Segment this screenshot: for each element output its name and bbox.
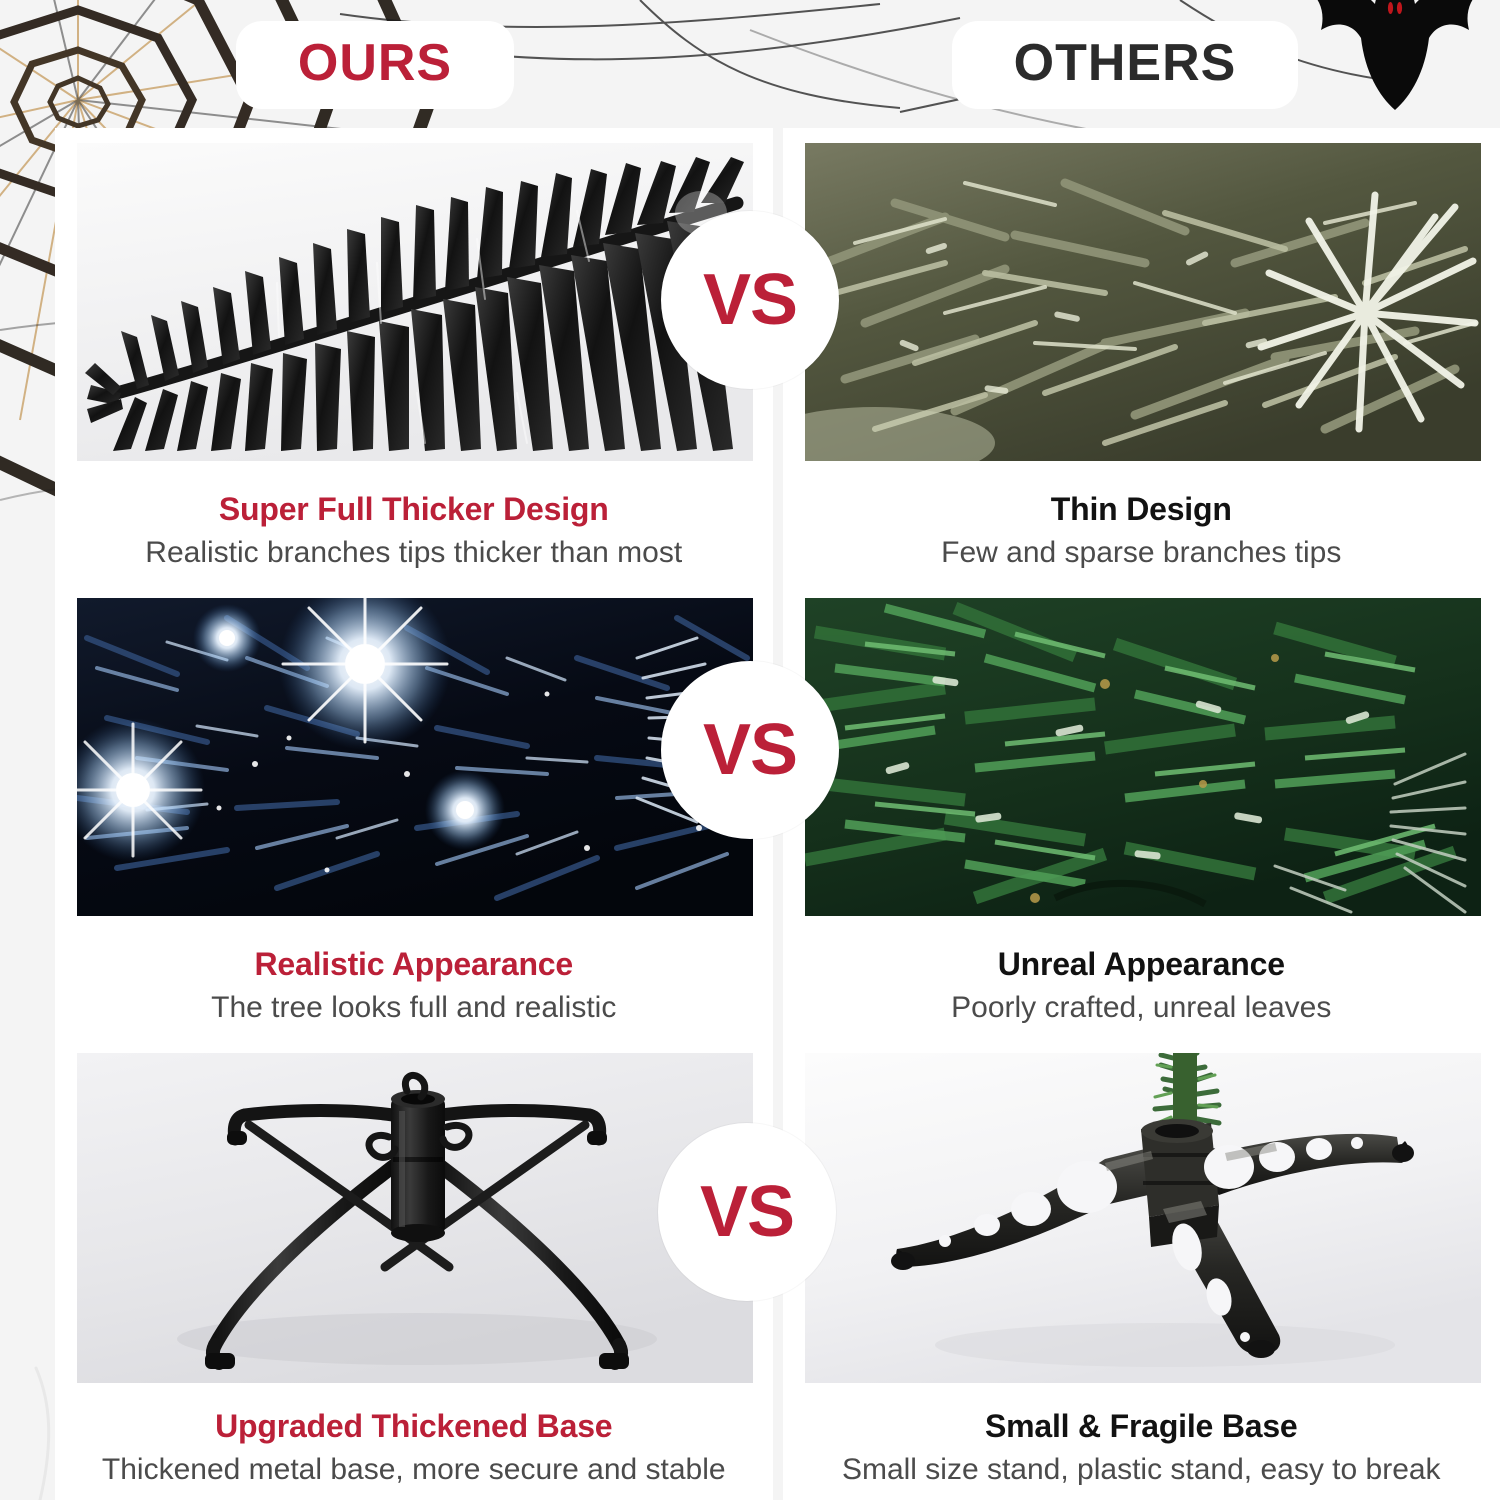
header-cell-ours: OURS (0, 0, 750, 130)
header-cell-others: OTHERS (750, 0, 1500, 130)
others-subtitle-base: Small size stand, plastic stand, easy to… (761, 1452, 1500, 1488)
ours-caption-base: Upgraded Thickened Base Thickened metal … (33, 1408, 795, 1488)
ours-subtitle-branch-design: Realistic branches tips thicker than mos… (55, 535, 773, 571)
photo-metal-tree-stand (77, 1053, 753, 1383)
ours-title-base: Upgraded Thickened Base (33, 1408, 795, 1446)
others-title-appearance: Unreal Appearance (783, 946, 1500, 984)
others-card-appearance: Unreal Appearance Poorly crafted, unreal… (783, 583, 1500, 1038)
ours-card-base: Upgraded Thickened Base Thickened metal … (55, 1038, 773, 1500)
vs-badge-appearance: VS (661, 661, 839, 839)
ours-subtitle-base: Thickened metal base, more secure and st… (33, 1452, 795, 1488)
ours-card-branch-design: Super Full Thicker Design Realistic bran… (55, 128, 773, 583)
ours-header-pill: OURS (236, 21, 514, 109)
others-card-branch-design: Thin Design Few and sparse branches tips (783, 128, 1500, 583)
others-card-base: Small & Fragile Base Small size stand, p… (783, 1038, 1500, 1500)
center-sleeve (391, 1090, 445, 1242)
photo-sparse-frosted-pine (805, 143, 1481, 461)
ours-caption-branch-design: Super Full Thicker Design Realistic bran… (55, 491, 773, 571)
ours-subtitle-appearance: The tree looks full and realistic (55, 990, 773, 1026)
header-row: OURS OTHERS (0, 0, 1500, 130)
photo-black-pine-branch (77, 143, 753, 461)
others-caption-base: Small & Fragile Base Small size stand, p… (761, 1408, 1500, 1488)
others-caption-appearance: Unreal Appearance Poorly crafted, unreal… (783, 946, 1500, 1026)
others-title-branch-design: Thin Design (783, 491, 1500, 529)
photo-black-lit-tree (77, 598, 753, 916)
photo-plastic-tree-stand (805, 1053, 1481, 1383)
others-subtitle-branch-design: Few and sparse branches tips (783, 535, 1500, 571)
comparison-infographic: OURS OTHERS (0, 0, 1500, 1500)
ours-title-branch-design: Super Full Thicker Design (55, 491, 773, 529)
ours-title-appearance: Realistic Appearance (55, 946, 773, 984)
vs-badge-base: VS (658, 1123, 836, 1301)
others-subtitle-appearance: Poorly crafted, unreal leaves (783, 990, 1500, 1026)
led-light (425, 770, 505, 850)
others-title-base: Small & Fragile Base (761, 1408, 1500, 1446)
photo-green-plastic-pine (805, 598, 1481, 916)
ours-caption-appearance: Realistic Appearance The tree looks full… (55, 946, 773, 1026)
others-caption-branch-design: Thin Design Few and sparse branches tips (783, 491, 1500, 571)
ours-card-appearance: Realistic Appearance The tree looks full… (55, 583, 773, 1038)
others-header-pill: OTHERS (952, 21, 1299, 109)
led-light (193, 604, 261, 672)
vs-badge-branch-design: VS (661, 211, 839, 389)
